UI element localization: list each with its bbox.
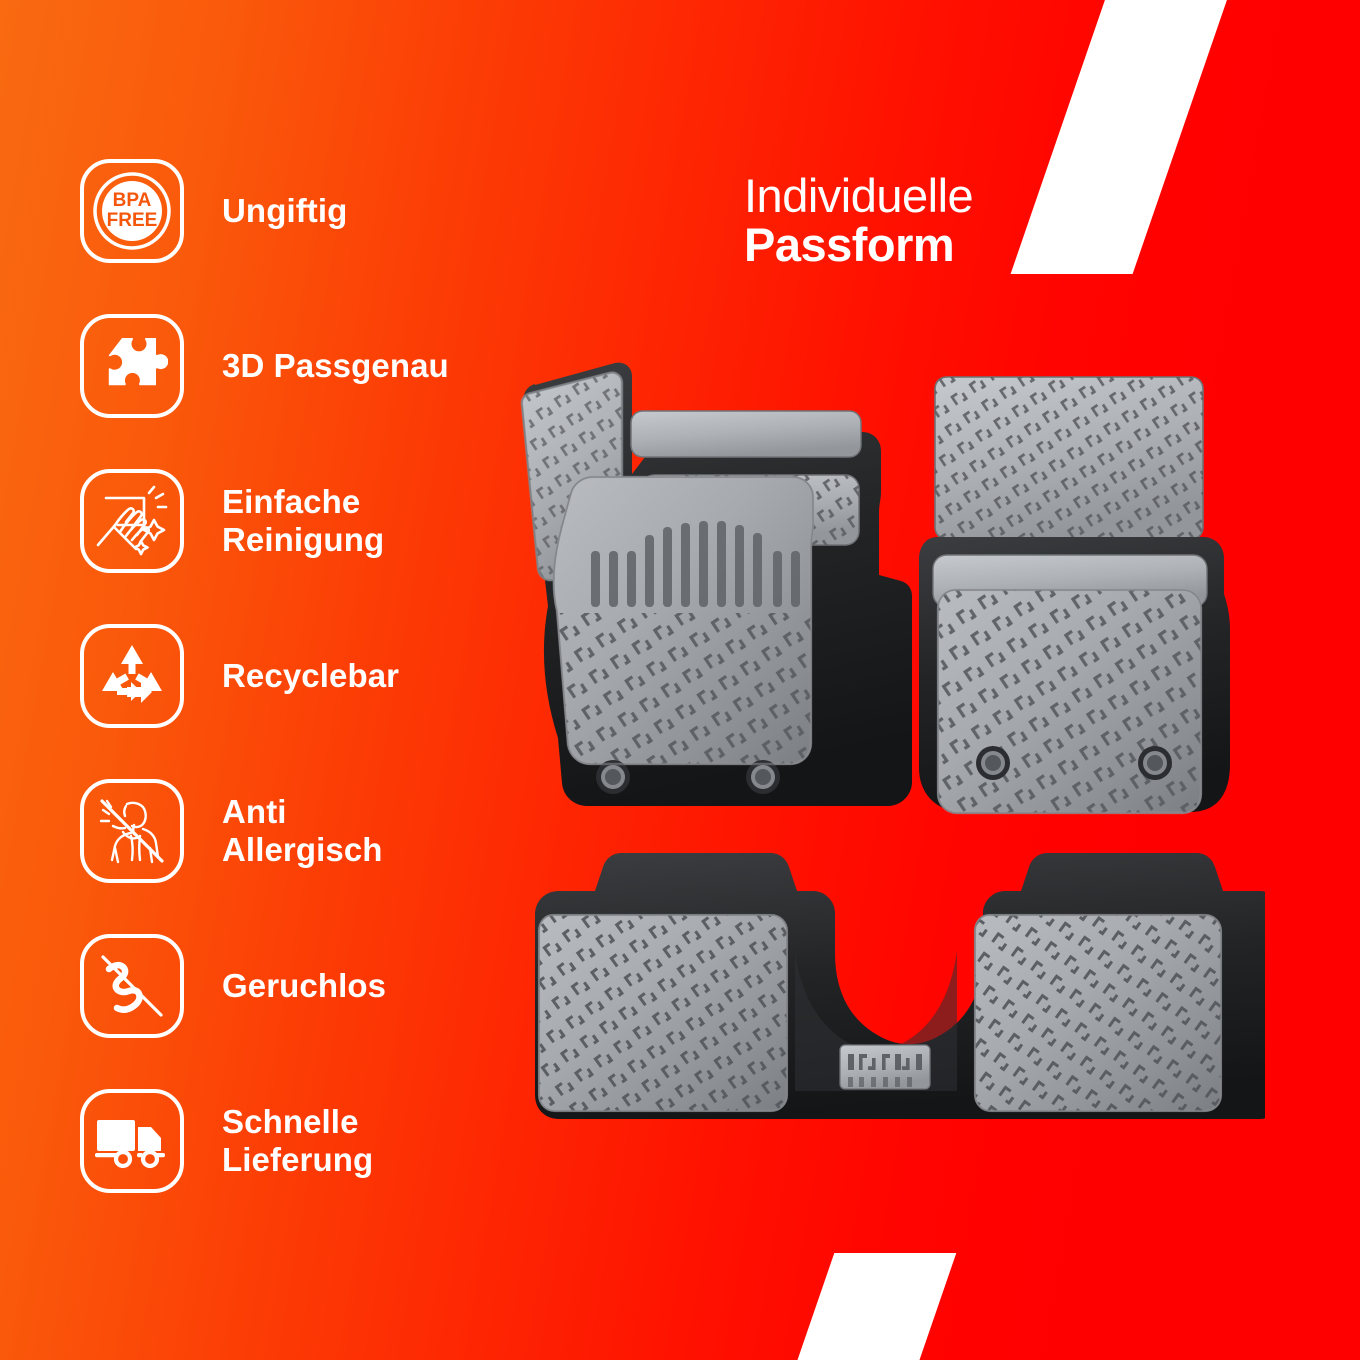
passenger-front-mat	[919, 369, 1230, 820]
bpa-badge-line-1: BPA	[113, 190, 152, 211]
feature-item-3d-passgenau: 3D Passgenau	[80, 310, 510, 421]
driver-front-mat	[515, 363, 912, 843]
recycle-icon	[80, 624, 184, 728]
bpa-badge-line-2: FREE	[107, 210, 158, 231]
feature-label-3d-passgenau: 3D Passgenau	[222, 347, 449, 385]
bpa-free-icon: BPA FREE	[80, 159, 184, 263]
feature-list: BPA FREE Ungiftig 3D Passgenau	[80, 155, 510, 1196]
feature-item-schnelle-lieferung: Schnelle Lieferung	[80, 1085, 510, 1196]
product-image-car-floor-mat-set	[495, 355, 1265, 1155]
delivery-truck-icon	[80, 1089, 184, 1193]
feature-label-recyclebar: Recyclebar	[222, 657, 399, 695]
feature-label-geruchlos: Geruchlos	[222, 967, 386, 1005]
feature-label-schnelle-lieferung: Schnelle Lieferung	[222, 1103, 373, 1178]
diagonal-stripe-bottom-icon	[793, 1253, 956, 1360]
feature-item-anti-allergisch: Anti Allergisch	[80, 775, 510, 886]
no-allergy-icon	[80, 779, 184, 883]
cleaning-hand-icon	[80, 469, 184, 573]
feature-item-einfache-reinigung: Einfache Reinigung	[80, 465, 510, 576]
headline-line-2: Passform	[744, 221, 973, 270]
diagonal-stripe-top-right-icon	[1011, 0, 1229, 274]
headline-line-1: Individuelle	[744, 172, 973, 221]
feature-item-recyclebar: Recyclebar	[80, 620, 510, 731]
puzzle-piece-icon	[80, 314, 184, 418]
feature-label-ungiftig: Ungiftig	[222, 192, 347, 230]
infographic-canvas: Individuelle Passform BPA FREE Ungiftig	[0, 0, 1360, 1360]
page-title: Individuelle Passform	[744, 172, 973, 270]
feature-label-einfache-reinigung: Einfache Reinigung	[222, 483, 384, 558]
rear-bench-mat	[535, 853, 1265, 1119]
no-odour-icon	[80, 934, 184, 1038]
feature-label-anti-allergisch: Anti Allergisch	[222, 793, 383, 868]
feature-item-ungiftig: BPA FREE Ungiftig	[80, 155, 510, 266]
feature-item-geruchlos: Geruchlos	[80, 930, 510, 1041]
